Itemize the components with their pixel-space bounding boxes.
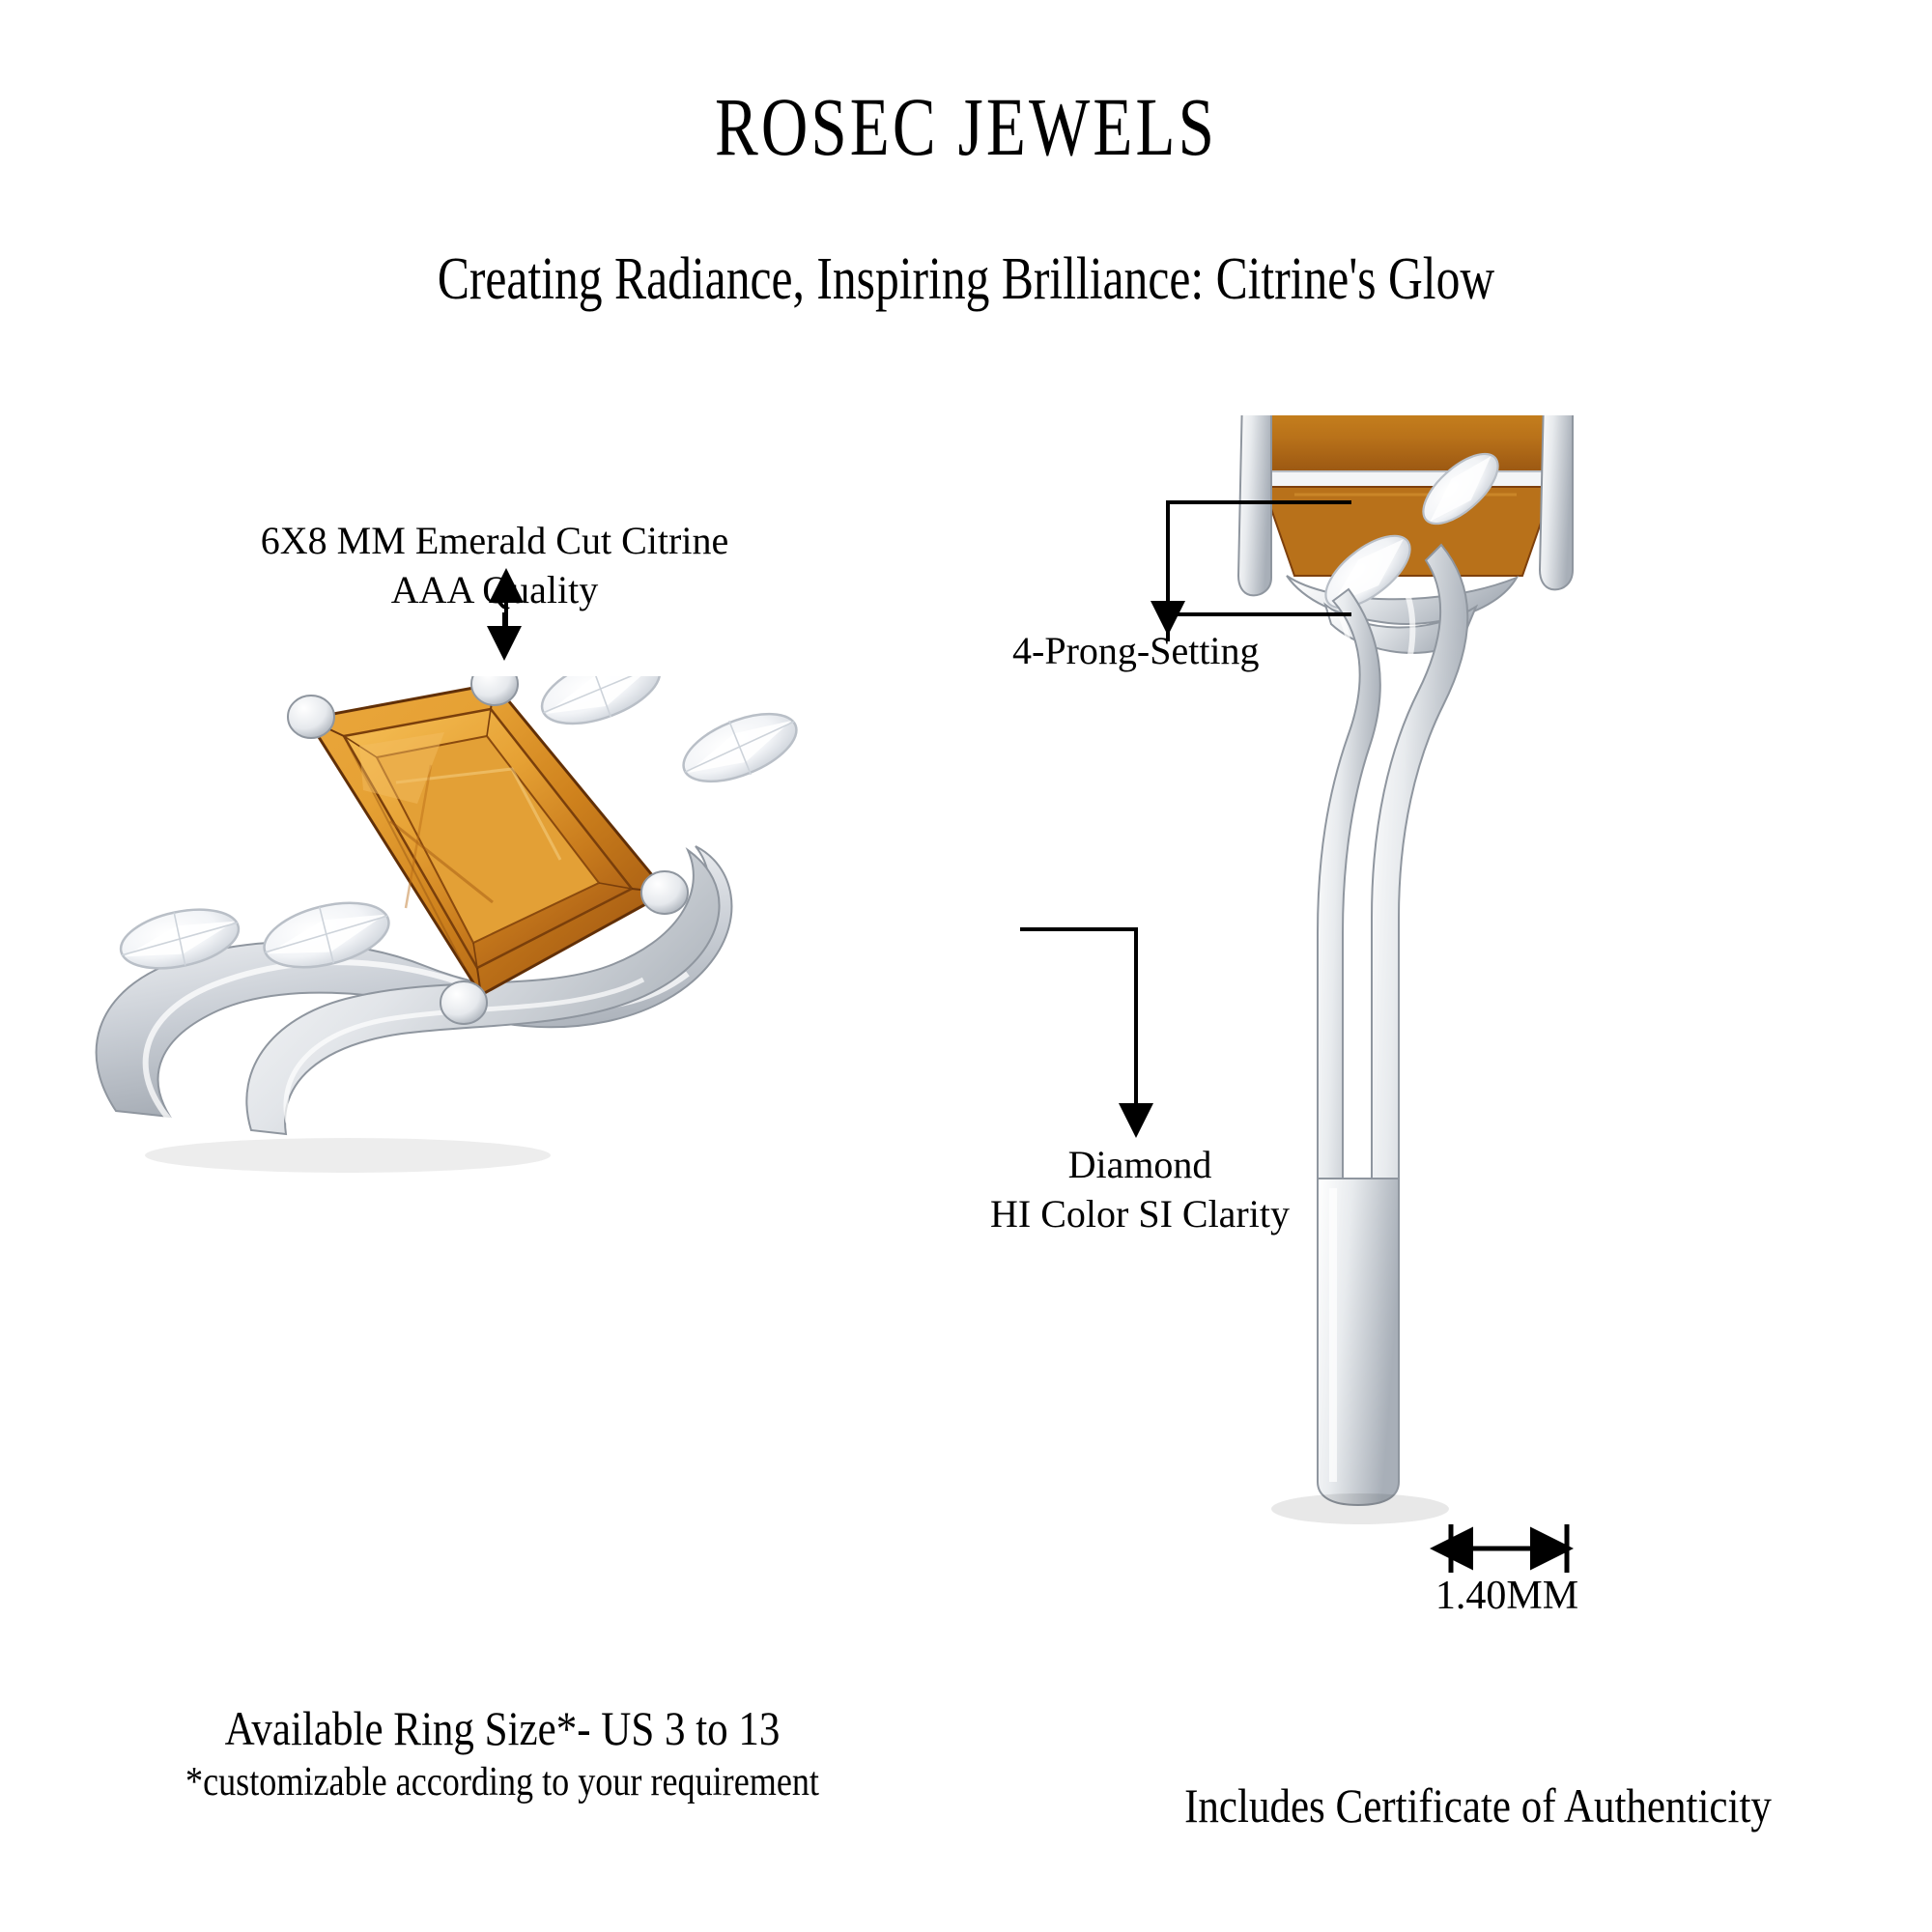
- leader-diamond: [1020, 929, 1136, 1126]
- center-gemstone-citrine: [307, 684, 667, 995]
- marquise-diamond-left-outer: [116, 900, 244, 979]
- callout-prong-setting-label: 4-Prong-Setting: [1012, 626, 1321, 675]
- side-gemstone-citrine: [1264, 415, 1553, 576]
- marquise-diamond-right-lower: [673, 698, 806, 797]
- prong-bottom-right: [641, 871, 688, 914]
- callout-center-stone-line1: 6X8 MM Emerald Cut Citrine: [224, 516, 765, 565]
- callout-prong-setting: 4-Prong-Setting: [1012, 626, 1321, 675]
- ring-vine-crossover: [246, 850, 719, 1134]
- side-band-base: [1318, 1179, 1399, 1505]
- dimension-band-width: [1451, 1524, 1567, 1573]
- ring-side-shadow: [1271, 1493, 1449, 1524]
- side-marquise-lower: [1314, 523, 1422, 621]
- marquise-diamond-right-upper: [533, 676, 669, 738]
- ring-front-shadow: [145, 1138, 551, 1173]
- prong-bottom-left: [440, 981, 487, 1024]
- marquise-diamond-left-inner: [258, 892, 396, 979]
- ring-front-view-illustration: [58, 676, 908, 1275]
- footer-ring-size: Available Ring Size*- US 3 to 13: [145, 1702, 860, 1755]
- callout-accent-diamonds-line1: Diamond: [976, 1140, 1304, 1189]
- brand-tagline: Creating Radiance, Inspiring Brilliance:…: [193, 249, 1739, 309]
- side-prong-right: [1540, 415, 1573, 589]
- callout-accent-diamonds: Diamond HI Color SI Clarity: [976, 1140, 1304, 1238]
- callout-accent-diamonds-line2: HI Color SI Clarity: [976, 1189, 1304, 1238]
- side-marquise-upper: [1412, 442, 1510, 536]
- ring-side-view-illustration: [1236, 415, 1777, 1633]
- footer-certificate: Includes Certificate of Authenticity: [1104, 1779, 1852, 1833]
- band-width-label: 1.40MM: [1401, 1573, 1613, 1619]
- footer-ring-size-block: Available Ring Size*- US 3 to 13 *custom…: [87, 1702, 918, 1810]
- prong-top-right: [471, 676, 518, 705]
- infographic-canvas: ROSEC JEWELS Creating Radiance, Inspirin…: [0, 0, 1932, 1932]
- callout-center-stone-line2: AAA Quality: [224, 565, 765, 614]
- side-shoulder-twist: [1318, 545, 1467, 1200]
- prong-top-left: [288, 696, 334, 738]
- side-prong-left: [1238, 415, 1271, 595]
- brand-title: ROSEC JEWELS: [213, 85, 1719, 168]
- leader-prong: [1168, 502, 1351, 624]
- callout-center-stone: 6X8 MM Emerald Cut Citrine AAA Quality: [224, 516, 765, 614]
- footer-ring-size-note: *customizable according to your requirem…: [145, 1755, 860, 1810]
- ring-band-front: [97, 846, 732, 1122]
